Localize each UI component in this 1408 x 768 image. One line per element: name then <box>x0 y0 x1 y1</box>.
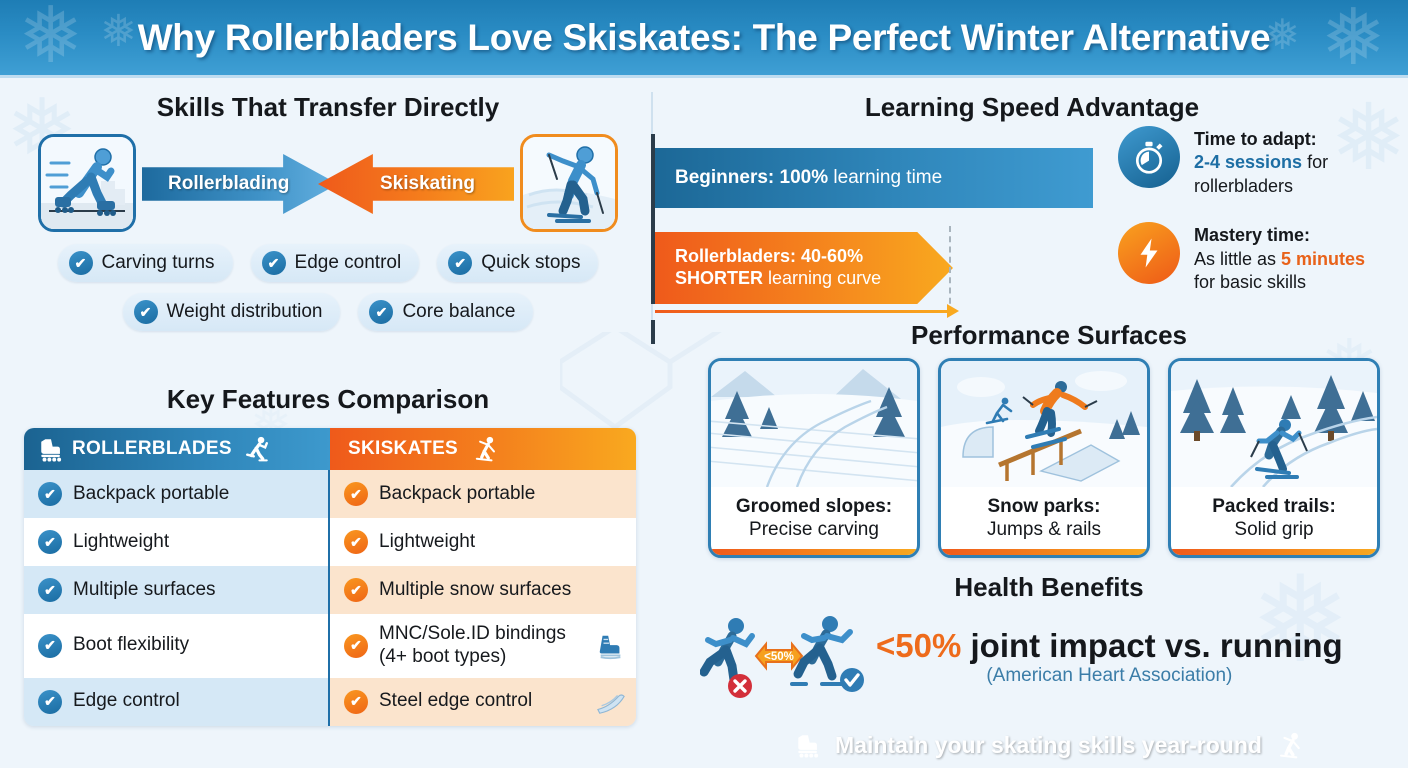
beginners-bar-label: Beginners: 100% learning time <box>675 167 942 189</box>
ice-skate-icon <box>596 631 626 661</box>
skill-label: Weight distribution <box>167 301 323 323</box>
packed-trail-illustration <box>1171 361 1377 487</box>
badge-text: <50% <box>764 651 794 663</box>
chart-progress-arrow <box>655 310 951 313</box>
rollerblading-arrow: Rollerblading <box>142 154 338 214</box>
table-cell-skiskates: ✔ Multiple snow surfaces <box>330 566 636 614</box>
roller-skate-icon <box>795 732 821 758</box>
check-icon: ✔ <box>344 530 368 554</box>
health-stat: <50% <box>876 627 961 664</box>
table-cell-rollerblades: ✔ Multiple surfaces <box>24 566 330 614</box>
cell-text: Steel edge control <box>379 690 585 713</box>
fact-time-to-adapt-text: Time to adapt: 2-4 sessions for rollerbl… <box>1194 126 1328 198</box>
transfer-diagram: Rollerblading Skiskating <box>38 134 618 234</box>
chart-reference-line <box>949 226 951 314</box>
skiskater-illustration <box>520 134 618 232</box>
chart-progress-arrow-tip <box>947 304 959 318</box>
skill-pill[interactable]: ✔ Carving turns <box>58 244 233 282</box>
table-row: ✔ Lightweight ✔ Lightweight <box>24 518 636 566</box>
surface-card-title: Snow parks: <box>988 496 1101 518</box>
surface-cards: Groomed slopes: Precise carving <box>708 358 1380 558</box>
skill-label: Carving turns <box>102 252 215 274</box>
surface-card[interactable]: Snow parks: Jumps & rails <box>938 358 1150 558</box>
fact-mastery-time-text: Mastery time: As little as 5 minutes for… <box>1194 222 1365 294</box>
surface-card[interactable]: Groomed slopes: Precise carving <box>708 358 920 558</box>
health-statement-text: joint impact vs. running <box>961 627 1342 664</box>
health-stat-row: <50% <50% joint impact v <box>700 614 1400 700</box>
column-header-skiskates: SKISKATES <box>330 428 636 470</box>
skills-row-1: ✔ Carving turns ✔ Edge control ✔ Quick s… <box>8 244 648 282</box>
check-icon: ✔ <box>38 634 62 658</box>
surface-card-title: Packed trails: <box>1212 496 1336 518</box>
skier-icon <box>1276 732 1303 759</box>
snowflake-icon: ❅ <box>100 6 137 57</box>
fact-pre: As little as <box>1194 249 1281 269</box>
skills-section-title: Skills That Transfer Directly <box>8 92 648 123</box>
skill-label: Quick stops <box>481 252 580 274</box>
cell-text: Backpack portable <box>379 483 626 506</box>
table-header-row: ROLLERBLADES SKISKATES <box>24 428 636 470</box>
page-header: ❅ ❅ ❅ ❅ Why Rollerbladers Love Skiskates… <box>0 0 1408 78</box>
skills-row-2: ✔ Weight distribution ✔ Core balance <box>8 293 648 331</box>
banner-text: Maintain your skating skills year-round <box>835 732 1262 759</box>
skills-transfer-section: Skills That Transfer Directly <box>8 86 648 346</box>
roller-skate-icon <box>38 436 64 462</box>
check-icon: ✔ <box>448 251 472 275</box>
learning-speed-chart: Beginners: 100% learning time Rollerblad… <box>651 134 1121 304</box>
check-icon: ✔ <box>344 690 368 714</box>
cell-text: Lightweight <box>73 531 318 554</box>
surfaces-section-title: Performance Surfaces <box>690 320 1408 351</box>
skater-icon <box>244 436 270 462</box>
surface-card-title: Groomed slopes: <box>736 496 892 518</box>
check-icon: ✔ <box>38 482 62 506</box>
fact-heading: Time to adapt: <box>1194 128 1328 151</box>
table-cell-rollerblades: ✔ Boot flexibility <box>24 614 330 678</box>
skiskating-arrow-label: Skiskating <box>380 173 475 195</box>
fact-time-to-adapt: Time to adapt: 2-4 sessions for rollerbl… <box>1118 126 1408 198</box>
check-icon: ✔ <box>369 300 393 324</box>
comparison-table: ROLLERBLADES SKISKATES <box>24 428 636 726</box>
cell-text: Boot flexibility <box>73 634 318 657</box>
column-header-rollerblades: ROLLERBLADES <box>24 428 330 470</box>
chart-axis-foot <box>651 320 655 344</box>
fact-highlight: 2-4 sessions <box>1194 152 1302 172</box>
performance-surfaces-section: Performance Surfaces <box>690 318 1408 568</box>
rollerblader-illustration <box>38 134 136 232</box>
table-row: ✔ Boot flexibility ✔ MNC/Sole.ID binding… <box>24 614 636 678</box>
learning-facts-list: Time to adapt: 2-4 sessions for rollerbl… <box>1118 126 1408 318</box>
health-source: (American Heart Association) <box>876 665 1343 687</box>
rollerblading-arrow-label: Rollerblading <box>168 173 289 195</box>
skiskating-arrow: Skiskating <box>318 154 514 214</box>
health-headline: <50% joint impact vs. running <box>876 629 1343 664</box>
surface-card-sub: Solid grip <box>1234 519 1313 541</box>
table-cell-rollerblades: ✔ Lightweight <box>24 518 330 566</box>
learning-section-title: Learning Speed Advantage <box>656 92 1408 123</box>
beginners-bar: Beginners: 100% learning time <box>655 148 1093 208</box>
snowflake-icon: ❅ <box>1321 0 1386 83</box>
check-icon: ✔ <box>344 578 368 602</box>
skill-label: Core balance <box>402 301 515 323</box>
comparison-section-title: Key Features Comparison <box>8 384 648 415</box>
table-row: ✔ Backpack portable ✔ Backpack portable <box>24 470 636 518</box>
table-cell-skiskates: ✔ MNC/Sole.ID bindings (4+ boot types) <box>330 614 636 678</box>
stopwatch-icon <box>1118 126 1180 188</box>
check-icon: ✔ <box>69 251 93 275</box>
table-cell-skiskates: ✔ Lightweight <box>330 518 636 566</box>
check-icon: ✔ <box>38 690 62 714</box>
fact-highlight: 5 minutes <box>1281 249 1365 269</box>
table-row: ✔ Multiple surfaces ✔ Multiple snow surf… <box>24 566 636 614</box>
surface-card-caption: Packed trails: Solid grip <box>1171 487 1377 549</box>
surface-card-caption: Groomed slopes: Precise carving <box>711 487 917 549</box>
column-header-label: ROLLERBLADES <box>72 438 232 460</box>
health-statement: <50% joint impact vs. running (American … <box>876 627 1343 688</box>
page-title: Why Rollerbladers Love Skiskates: The Pe… <box>138 17 1271 59</box>
rollerbladers-bar: Rollerbladers: 40-60% SHORTER learning c… <box>655 232 953 304</box>
cell-text: MNC/Sole.ID bindings (4+ boot types) <box>379 623 585 669</box>
health-section-title: Health Benefits <box>690 572 1408 603</box>
health-benefits-section: Health Benefits <50% <box>690 572 1408 692</box>
cell-text: Edge control <box>73 690 318 713</box>
check-icon: ✔ <box>38 530 62 554</box>
snowflake-icon: ❅ <box>18 0 83 81</box>
check-icon: ✔ <box>262 251 286 275</box>
fact-rest: for <box>1302 152 1328 172</box>
cell-text: Multiple surfaces <box>73 579 318 602</box>
ski-icon <box>596 687 626 717</box>
skill-pill[interactable]: ✔ Edge control <box>251 244 420 282</box>
check-icon: ✔ <box>38 578 62 602</box>
surface-card-caption: Snow parks: Jumps & rails <box>941 487 1147 549</box>
column-header-label: SKISKATES <box>348 438 458 460</box>
groomed-slope-illustration <box>711 361 917 487</box>
fact-heading: Mastery time: <box>1194 224 1365 247</box>
learning-speed-section: Learning Speed Advantage Beginners: 100%… <box>656 86 1408 318</box>
card-accent-bar <box>711 549 917 555</box>
lightning-bolt-icon <box>1118 222 1180 284</box>
skill-pill[interactable]: ✔ Core balance <box>358 293 533 331</box>
fact-mastery-time: Mastery time: As little as 5 minutes for… <box>1118 222 1408 294</box>
table-cell-skiskates: ✔ Steel edge control <box>330 678 636 726</box>
skier-icon <box>472 436 498 462</box>
table-cell-rollerblades: ✔ Edge control <box>24 678 330 726</box>
cell-text: Lightweight <box>379 531 626 554</box>
fact-line3: rollerbladers <box>1194 176 1293 196</box>
snowflake-icon: ❅ <box>1265 10 1300 59</box>
bottom-banner: Maintain your skating skills year-round <box>690 722 1408 768</box>
card-accent-bar <box>1171 549 1377 555</box>
comparison-section: Key Features Comparison ROLLERBLADES <box>8 380 648 762</box>
surface-card-sub: Precise carving <box>749 519 879 541</box>
card-accent-bar <box>941 549 1147 555</box>
surface-card[interactable]: Packed trails: Solid grip <box>1168 358 1380 558</box>
rollerbladers-bar-line1: Rollerbladers: 40-60% <box>675 246 953 268</box>
check-icon: ✔ <box>344 634 368 658</box>
snow-park-illustration <box>941 361 1147 487</box>
skill-label: Edge control <box>295 252 402 274</box>
table-row: ✔ Edge control ✔ Steel edge control <box>24 678 636 726</box>
runner-vs-skater-comparison-icon: <50% <box>700 614 870 700</box>
check-icon: ✔ <box>344 482 368 506</box>
skill-pill[interactable]: ✔ Quick stops <box>437 244 598 282</box>
infographic-canvas: ❅ ❅ ❅ ❅ ❅ ❅ ❅ ❅ ❅ ❅ Why Rollerbladers Lo… <box>0 0 1408 768</box>
table-cell-rollerblades: ✔ Backpack portable <box>24 470 330 518</box>
rollerbladers-bar-line2: SHORTER learning curve <box>675 268 953 290</box>
check-icon: ✔ <box>134 300 158 324</box>
cell-text: Backpack portable <box>73 483 318 506</box>
skill-pill[interactable]: ✔ Weight distribution <box>123 293 341 331</box>
fact-line3: for basic skills <box>1194 272 1306 292</box>
table-cell-skiskates: ✔ Backpack portable <box>330 470 636 518</box>
surface-card-sub: Jumps & rails <box>987 519 1101 541</box>
cell-text: Multiple snow surfaces <box>379 579 626 602</box>
transferable-skills-list: ✔ Carving turns ✔ Edge control ✔ Quick s… <box>8 244 648 342</box>
